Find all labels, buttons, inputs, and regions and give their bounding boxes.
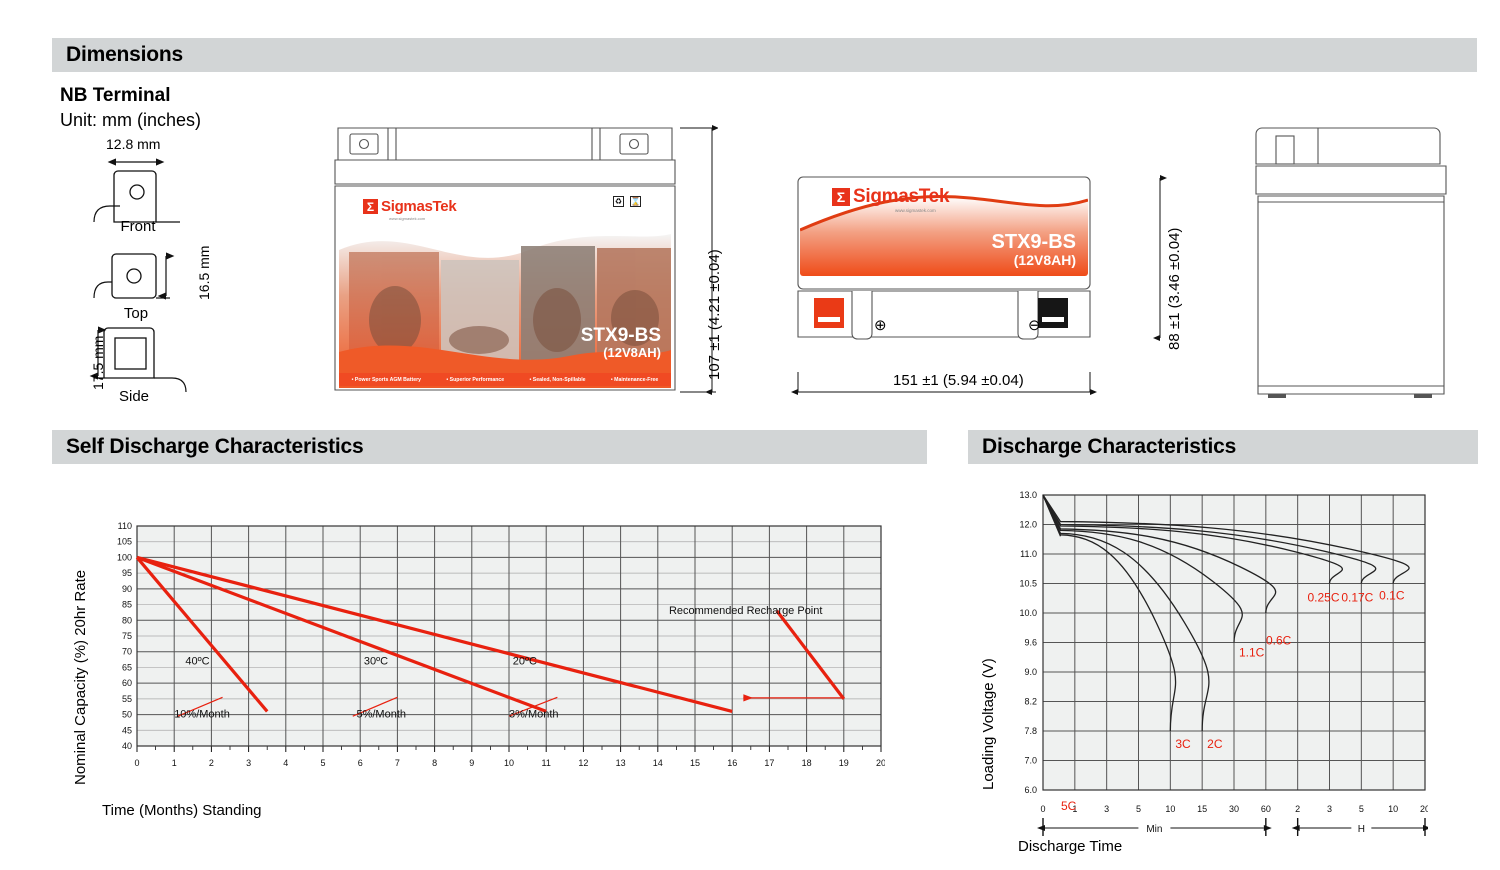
y-tick-label: 9.6 — [1024, 638, 1037, 648]
battery-depth-dim: 88 ±1 (3.46 ±0.04) — [1166, 228, 1183, 350]
battery-feature-bar: • Power Sports AGM Battery • Superior Pe… — [339, 373, 671, 386]
chart-annotation: 40ºC — [185, 655, 209, 667]
y-tick-label: 95 — [122, 568, 132, 578]
battery-side-view — [1240, 118, 1460, 403]
feature-item: • Sealed, Non-Spillable — [530, 377, 586, 383]
sigma-logo-icon: Σ — [363, 199, 378, 214]
terminal-view-front-label: Front — [100, 218, 176, 235]
battery-spec: (12V8AH) — [603, 346, 661, 360]
x-tick-label: 16 — [727, 758, 737, 768]
x-tick-label: 18 — [802, 758, 812, 768]
scale-label-min: Min — [1146, 824, 1162, 835]
y-tick-label: 11.0 — [1020, 549, 1037, 559]
y-tick-label: 9.0 — [1024, 667, 1037, 677]
discharge-rate-label: 2C — [1207, 737, 1223, 751]
terminal-view-side-label: Side — [96, 388, 172, 405]
x-tick-label: 7 — [395, 758, 400, 768]
battery-front-label: Σ SigmasTek www.sigmastek.com ♻ ⌛ STX9-B… — [339, 190, 671, 388]
x-tick-label: 10 — [1165, 804, 1175, 814]
y-tick-label: 10.0 — [1019, 608, 1037, 618]
discharge-rate-label: 5C — [1061, 799, 1077, 813]
x-tick-label: 14 — [653, 758, 663, 768]
scale-label-hour: H — [1358, 824, 1365, 835]
x-tick-label: 30 — [1229, 804, 1239, 814]
terminal-view-top-label: Top — [98, 305, 174, 322]
brand-url: www.sigmastek.com — [389, 216, 425, 221]
section-title-self-discharge: Self Discharge Characteristics — [66, 435, 363, 459]
brand-name: SigmasTek — [853, 186, 949, 208]
section-header-self-discharge: Self Discharge Characteristics — [52, 430, 927, 464]
y-tick-label: 40 — [122, 741, 132, 751]
feature-item: • Maintenance-Free — [611, 377, 658, 383]
x-tick-label: 17 — [764, 758, 774, 768]
battery-model: STX9-BS — [992, 232, 1076, 253]
chart-annotation: 5%/Month — [356, 709, 406, 721]
y-tick-label: 105 — [117, 537, 132, 547]
x-tick-label: 5 — [320, 758, 325, 768]
x-tick-label: 8 — [432, 758, 437, 768]
feature-item: • Power Sports AGM Battery — [352, 377, 421, 383]
battery-width-dim: 151 ±1 (5.94 ±0.04) — [893, 372, 1024, 389]
discharge-rate-label: 0.17C — [1341, 591, 1373, 605]
self-discharge-y-axis-title: Nominal Capacity (%) 20hr Rate — [72, 570, 89, 785]
brand-name: SigmasTek — [381, 198, 456, 215]
do-not-dispose-icon: ⌛ — [630, 196, 641, 207]
self-discharge-chart: 4045505560657075808590951001051100123456… — [95, 518, 885, 783]
y-tick-label: 65 — [122, 662, 132, 672]
x-tick-label: 13 — [616, 758, 626, 768]
x-tick-label: 6 — [358, 758, 363, 768]
self-discharge-x-axis-title: Time (Months) Standing — [102, 802, 262, 819]
terminal-title: NB Terminal — [60, 85, 171, 107]
x-tick-label: 20 — [876, 758, 885, 768]
x-tick-label: 60 — [1261, 804, 1271, 814]
discharge-rate-label: 3C — [1175, 737, 1191, 751]
x-tick-label: 4 — [283, 758, 288, 768]
x-tick-label: 0 — [1040, 804, 1045, 814]
x-tick-label: 3 — [246, 758, 251, 768]
x-tick-label: 10 — [504, 758, 514, 768]
y-tick-label: 12.0 — [1019, 520, 1037, 530]
chart-annotation: 3%/Month — [509, 709, 559, 721]
x-tick-label: 9 — [469, 758, 474, 768]
y-tick-label: 7.0 — [1024, 756, 1037, 766]
y-tick-label: 60 — [122, 678, 132, 688]
battery-spec: (12V8AH) — [1014, 253, 1076, 268]
feature-item: • Superior Performance — [446, 377, 504, 383]
recycle-icon: ♻ — [613, 196, 624, 207]
section-title-discharge: Discharge Characteristics — [982, 435, 1236, 459]
x-tick-label: 10 — [1388, 804, 1398, 814]
sigma-logo-icon: Σ — [832, 188, 850, 206]
section-header-discharge: Discharge Characteristics — [968, 430, 1478, 464]
y-tick-label: 85 — [122, 600, 132, 610]
x-tick-label: 12 — [578, 758, 588, 768]
battery-brand-terminal: Σ SigmasTek — [832, 186, 949, 208]
chart-annotation: 10%/Month — [174, 709, 230, 721]
y-tick-label: 80 — [122, 615, 132, 625]
battery-terminal-label: Σ SigmasTek www.sigmastek.com STX9-BS (1… — [800, 178, 1088, 276]
x-tick-label: 1 — [172, 758, 177, 768]
battery-negative-terminal: ⊖ — [1028, 316, 1041, 334]
y-tick-label: 45 — [122, 725, 132, 735]
y-tick-label: 100 — [117, 552, 132, 562]
section-title-dimensions: Dimensions — [66, 43, 183, 67]
y-tick-label: 7.8 — [1024, 726, 1037, 736]
y-tick-label: 90 — [122, 584, 132, 594]
y-tick-label: 110 — [118, 521, 132, 531]
terminal-height-dim: 17.5 mm — [90, 336, 106, 390]
discharge-rate-label: 0.1C — [1379, 589, 1405, 603]
x-tick-label: 20 — [1420, 804, 1428, 814]
discharge-rate-label: 0.6C — [1266, 634, 1292, 648]
battery-positive-terminal: ⊕ — [874, 316, 887, 334]
battery-height-dim: 107 ±1 (4.21 ±0.04) — [706, 249, 723, 380]
section-header-dimensions: Dimensions — [52, 38, 1477, 72]
battery-model: STX9-BS — [581, 326, 661, 346]
y-tick-label: 8.2 — [1024, 697, 1037, 707]
x-tick-label: 11 — [542, 758, 551, 768]
battery-brand: Σ SigmasTek — [363, 198, 456, 215]
discharge-y-axis-title: Loading Voltage (V) — [980, 658, 997, 790]
x-tick-label: 0 — [134, 758, 139, 768]
discharge-rate-label: 0.25C — [1308, 591, 1340, 605]
x-tick-label: 15 — [690, 758, 700, 768]
x-tick-label: 15 — [1197, 804, 1207, 814]
chart-annotation: 20ºC — [513, 655, 537, 667]
brand-url: www.sigmastek.com — [895, 208, 936, 213]
y-tick-label: 50 — [122, 710, 132, 720]
y-tick-label: 10.5 — [1019, 579, 1037, 589]
chart-annotation: Recommended Recharge Point — [669, 605, 822, 617]
y-tick-label: 6.0 — [1024, 785, 1037, 795]
x-tick-label: 2 — [209, 758, 214, 768]
x-tick-label: 5 — [1359, 804, 1364, 814]
y-tick-label: 70 — [122, 647, 132, 657]
x-tick-label: 3 — [1327, 804, 1332, 814]
discharge-rate-label: 1.1C — [1239, 646, 1265, 660]
terminal-depth-dim: 16.5 mm — [196, 246, 212, 300]
x-tick-label: 19 — [839, 758, 849, 768]
x-tick-label: 2 — [1295, 804, 1300, 814]
x-tick-label: 3 — [1104, 804, 1109, 814]
discharge-chart: 13.012.011.010.510.09.69.08.27.87.06.001… — [1013, 485, 1428, 865]
chart-annotation: 30ºC — [364, 655, 388, 667]
y-tick-label: 55 — [122, 694, 132, 704]
x-tick-label: 5 — [1136, 804, 1141, 814]
y-tick-label: 75 — [122, 631, 132, 641]
terminal-unit: Unit: mm (inches) — [60, 110, 201, 131]
y-tick-label: 13.0 — [1019, 490, 1037, 500]
